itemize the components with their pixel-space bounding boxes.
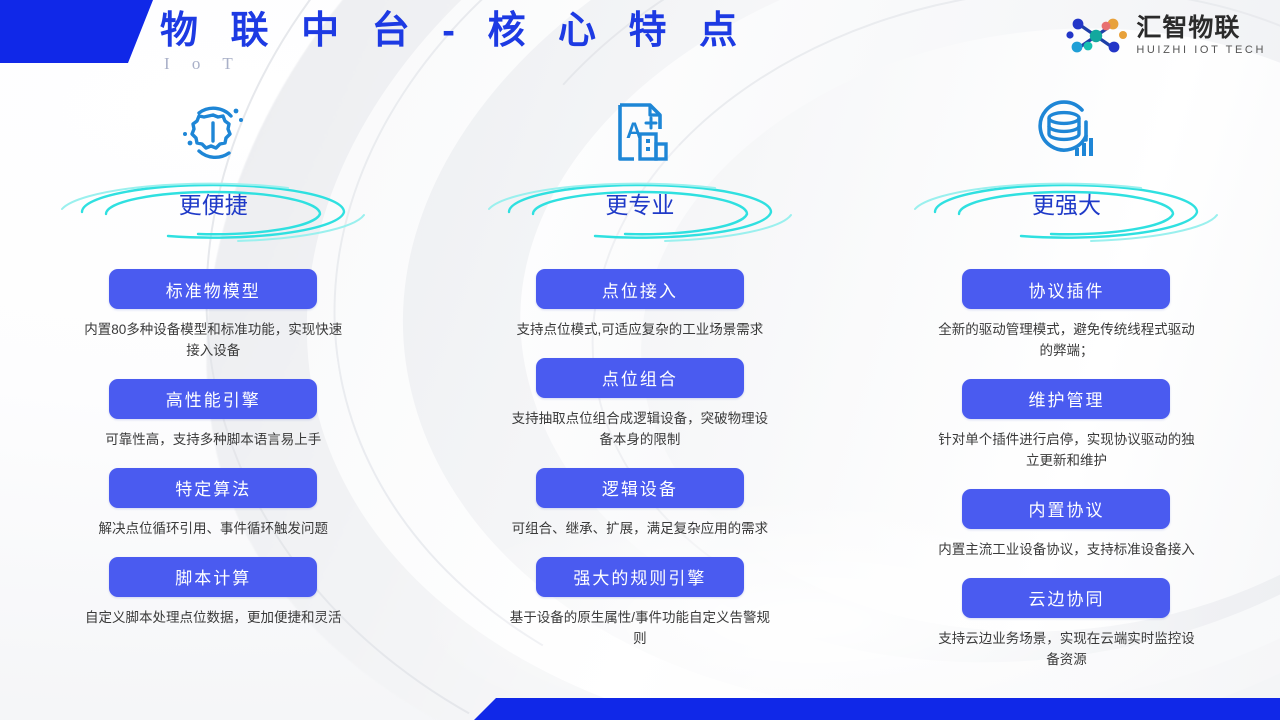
feature-item: 强大的规则引擎 基于设备的原生属性/事件功能自定义告警规则 (427, 557, 854, 650)
feature-description: 内置主流工业设备协议，支持标准设备接入 (934, 540, 1199, 561)
column-headline: 更便捷 (48, 175, 378, 237)
document-a-plus-building-icon: A (604, 96, 676, 168)
feature-columns: 更便捷 标准物模型 内置80多种设备模型和标准功能，实现快速接入设备 高性能引擎… (0, 95, 1280, 670)
feature-title-pill[interactable]: 高性能引擎 (109, 379, 317, 419)
feature-item: 维护管理 针对单个插件进行启停，实现协议驱动的独立更新和维护 (853, 379, 1280, 472)
column-headline: 更强大 (901, 175, 1231, 237)
feature-description: 支持云边业务场景，实现在云端实时监控设备资源 (934, 629, 1199, 671)
feature-item-list: 协议插件 全新的驱动管理模式，避免传统线程式驱动的弊端； 维护管理 针对单个插件… (853, 269, 1280, 670)
feature-title-pill[interactable]: 点位组合 (536, 358, 744, 398)
feature-column-2: A (427, 95, 854, 670)
feature-description: 解决点位循环引用、事件循环触发问题 (81, 519, 346, 540)
feature-description: 支持抽取点位组合成逻辑设备，突破物理设备本身的限制 (507, 409, 772, 451)
feature-column-3: 更强大 协议插件 全新的驱动管理模式，避免传统线程式驱动的弊端； 维护管理 针对… (853, 95, 1280, 670)
page-subtitle: I o T (164, 54, 748, 74)
page-title: 物 联 中 台 - 核 心 特 点 (160, 8, 748, 56)
slide-root: 物 联 中 台 - 核 心 特 点 I o T 汇智物联 HUIZHI IOT … (0, 0, 1280, 720)
feature-title-pill[interactable]: 协议插件 (962, 269, 1170, 309)
header-corner-shape (0, 0, 160, 63)
column-icon-wrap: A (604, 95, 676, 169)
feature-item: 逻辑设备 可组合、继承、扩展，满足复杂应用的需求 (427, 468, 854, 540)
column-headline-zone: 更便捷 (48, 175, 378, 245)
feature-description: 自定义脚本处理点位数据，更加便捷和灵活 (81, 608, 346, 629)
feature-title-pill[interactable]: 维护管理 (962, 379, 1170, 419)
feature-description: 全新的驱动管理模式，避免传统线程式驱动的弊端； (934, 320, 1199, 362)
feature-title-pill[interactable]: 内置协议 (962, 489, 1170, 529)
feature-description: 基于设备的原生属性/事件功能自定义告警规则 (507, 608, 772, 650)
feature-item: 协议插件 全新的驱动管理模式，避免传统线程式驱动的弊端； (853, 269, 1280, 362)
feature-title-pill[interactable]: 云边协同 (962, 578, 1170, 618)
feature-description: 可组合、继承、扩展，满足复杂应用的需求 (507, 519, 772, 540)
feature-item: 点位接入 支持点位模式,可适应复杂的工业场景需求 (427, 269, 854, 341)
database-chart-icon (1030, 96, 1102, 168)
feature-item: 脚本计算 自定义脚本处理点位数据，更加便捷和灵活 (0, 557, 427, 629)
feature-description: 针对单个插件进行启停，实现协议驱动的独立更新和维护 (934, 430, 1199, 472)
feature-column-1: 更便捷 标准物模型 内置80多种设备模型和标准功能，实现快速接入设备 高性能引擎… (0, 95, 427, 670)
column-headline-zone: 更强大 (901, 175, 1231, 245)
feature-title-pill[interactable]: 脚本计算 (109, 557, 317, 597)
molecule-network-icon (1066, 14, 1128, 58)
feature-title-pill[interactable]: 逻辑设备 (536, 468, 744, 508)
logo-text: 汇智物联 HUIZHI IOT TECH (1136, 16, 1266, 56)
feature-item: 云边协同 支持云边业务场景，实现在云端实时监控设备资源 (853, 578, 1280, 671)
logo-name-en: HUIZHI IOT TECH (1136, 45, 1266, 56)
feature-item: 标准物模型 内置80多种设备模型和标准功能，实现快速接入设备 (0, 269, 427, 362)
column-icon-wrap (177, 95, 249, 169)
feature-item-list: 标准物模型 内置80多种设备模型和标准功能，实现快速接入设备 高性能引擎 可靠性… (0, 269, 427, 629)
feature-item-list: 点位接入 支持点位模式,可适应复杂的工业场景需求 点位组合 支持抽取点位组合成逻… (427, 269, 854, 650)
column-icon-wrap (1030, 95, 1102, 169)
footer-bar (0, 698, 1280, 720)
gear-shape (192, 115, 230, 148)
feature-title-pill[interactable]: 特定算法 (109, 468, 317, 508)
feature-title-pill[interactable]: 强大的规则引擎 (536, 557, 744, 597)
column-headline-zone: 更专业 (475, 175, 805, 245)
feature-item: 特定算法 解决点位循环引用、事件循环触发问题 (0, 468, 427, 540)
brain-gear-icon (177, 96, 249, 168)
feature-item: 内置协议 内置主流工业设备协议，支持标准设备接入 (853, 489, 1280, 561)
feature-item: 高性能引擎 可靠性高，支持多种脚本语言易上手 (0, 379, 427, 451)
feature-title-pill[interactable]: 点位接入 (536, 269, 744, 309)
feature-item: 点位组合 支持抽取点位组合成逻辑设备，突破物理设备本身的限制 (427, 358, 854, 451)
title-block: 物 联 中 台 - 核 心 特 点 I o T (160, 8, 748, 74)
column-headline: 更专业 (475, 175, 805, 237)
feature-title-pill[interactable]: 标准物模型 (109, 269, 317, 309)
feature-description: 支持点位模式,可适应复杂的工业场景需求 (507, 320, 772, 341)
feature-description: 内置80多种设备模型和标准功能，实现快速接入设备 (81, 320, 346, 362)
logo-name-cn: 汇智物联 (1136, 16, 1266, 41)
brand-logo: 汇智物联 HUIZHI IOT TECH (1066, 14, 1266, 58)
feature-description: 可靠性高，支持多种脚本语言易上手 (81, 430, 346, 451)
